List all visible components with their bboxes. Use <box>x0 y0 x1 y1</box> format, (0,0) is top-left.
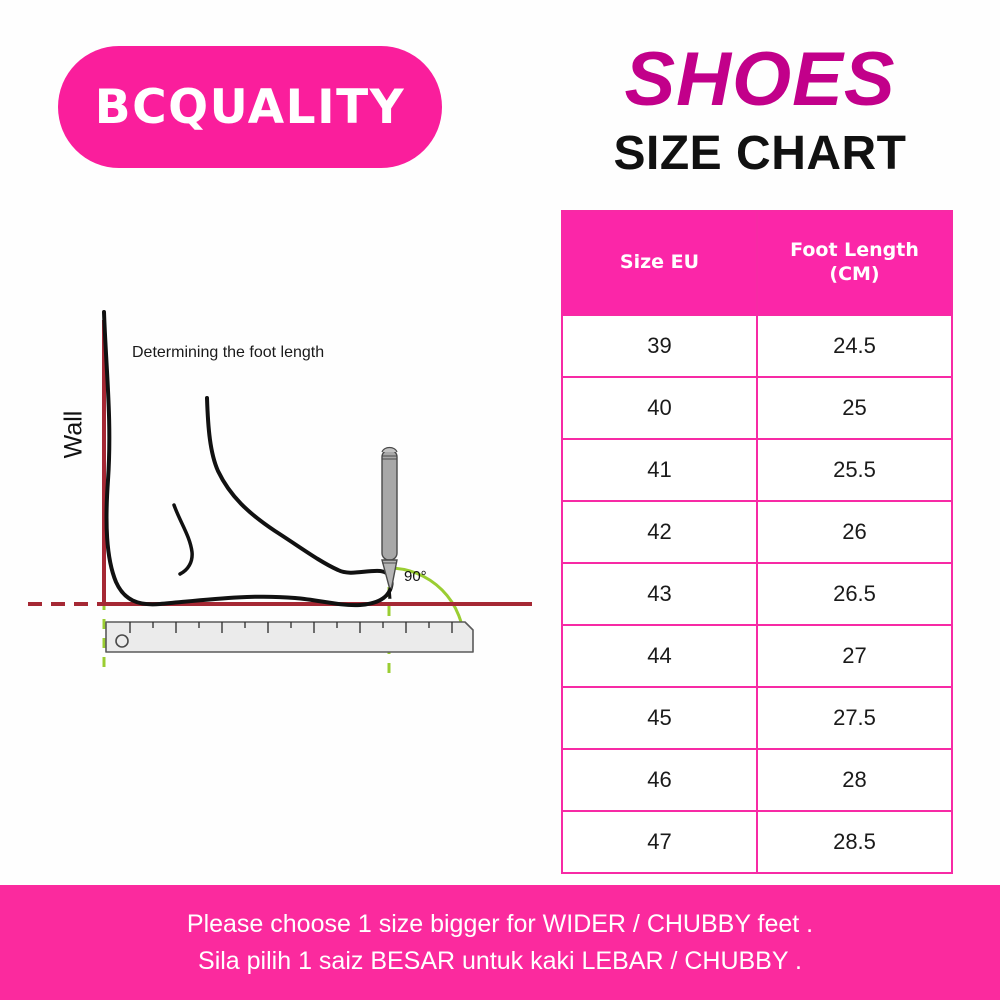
column-header-size-eu-line1: Size EU <box>620 251 699 273</box>
table-row: 40 25 <box>562 377 952 439</box>
cell-foot-length: 28 <box>757 749 952 811</box>
cell-foot-length: 28.5 <box>757 811 952 873</box>
cell-size-eu: 46 <box>562 749 757 811</box>
cell-size-eu: 43 <box>562 563 757 625</box>
banner-line-english: Please choose 1 size bigger for WIDER / … <box>187 906 813 942</box>
diagram-caption: Determining the foot length <box>132 344 324 362</box>
column-header-foot-length-line1: Foot Length <box>790 239 919 261</box>
cell-foot-length: 24.5 <box>757 315 952 377</box>
table-row: 45 27.5 <box>562 687 952 749</box>
brand-logo: BCQUALITY <box>58 46 442 168</box>
angle-label: 90° <box>404 568 427 585</box>
cell-foot-length: 27.5 <box>757 687 952 749</box>
page-title: SHOES SIZE CHART <box>555 42 965 181</box>
table-row: 39 24.5 <box>562 315 952 377</box>
table-header-row: Size EU Foot Length (CM) <box>562 211 952 315</box>
table-body: 39 24.5 40 25 41 25.5 42 26 43 26.5 44 2… <box>562 315 952 873</box>
cell-foot-length: 25.5 <box>757 439 952 501</box>
cell-foot-length: 26 <box>757 501 952 563</box>
table-row: 43 26.5 <box>562 563 952 625</box>
cell-size-eu: 39 <box>562 315 757 377</box>
table-row: 42 26 <box>562 501 952 563</box>
bottom-note-banner: Please choose 1 size bigger for WIDER / … <box>0 885 1000 1000</box>
column-header-foot-length: Foot Length (CM) <box>757 211 952 315</box>
cell-foot-length: 26.5 <box>757 563 952 625</box>
ruler-hole <box>116 635 128 647</box>
table-head: Size EU Foot Length (CM) <box>562 211 952 315</box>
pencil-icon <box>382 448 397 599</box>
cell-size-eu: 41 <box>562 439 757 501</box>
cell-size-eu: 44 <box>562 625 757 687</box>
title-primary: SHOES <box>555 42 965 118</box>
banner-line-malay: Sila pilih 1 saiz BESAR untuk kaki LEBAR… <box>198 943 802 979</box>
wall-label: Wall <box>60 375 89 495</box>
foot-measurement-diagram: Wall Determining the foot length 90° <box>20 300 540 700</box>
column-header-foot-length-line2: (CM) <box>829 263 879 285</box>
column-header-size-eu: Size EU <box>562 211 757 315</box>
cell-size-eu: 40 <box>562 377 757 439</box>
cell-foot-length: 25 <box>757 377 952 439</box>
size-chart-page: BCQUALITY SHOES SIZE CHART Wall Determin… <box>0 0 1000 1000</box>
cell-foot-length: 27 <box>757 625 952 687</box>
cell-size-eu: 45 <box>562 687 757 749</box>
cell-size-eu: 47 <box>562 811 757 873</box>
ankle-detail-line <box>174 505 192 574</box>
table-row: 41 25.5 <box>562 439 952 501</box>
brand-logo-text: BCQUALITY <box>95 80 405 135</box>
table-row: 44 27 <box>562 625 952 687</box>
cell-size-eu: 42 <box>562 501 757 563</box>
table-row: 46 28 <box>562 749 952 811</box>
table-row: 47 28.5 <box>562 811 952 873</box>
title-secondary: SIZE CHART <box>555 128 965 181</box>
size-chart-table: Size EU Foot Length (CM) 39 24.5 40 25 4… <box>561 210 953 874</box>
ruler-icon <box>106 622 473 652</box>
